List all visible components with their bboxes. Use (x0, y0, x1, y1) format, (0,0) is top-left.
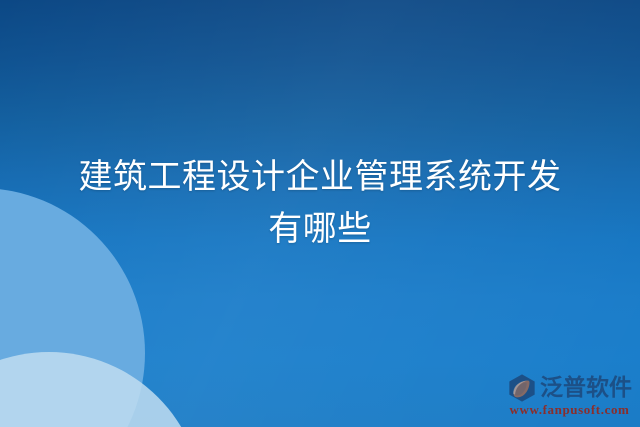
promo-banner: 建筑工程设计企业管理系统开发 有哪些 泛普软件 www.fanpusoft.co… (0, 0, 640, 427)
brand-watermark: 泛普软件 www.fanpusoft.com (507, 373, 632, 417)
brand-name: 泛普软件 (540, 374, 632, 402)
fanpu-hexagon-logo-icon (507, 373, 537, 403)
brand-url: www.fanpusoft.com (510, 402, 630, 417)
brand-lockup-row: 泛普软件 (507, 373, 632, 403)
banner-headline: 建筑工程设计企业管理系统开发 有哪些 (0, 152, 640, 256)
